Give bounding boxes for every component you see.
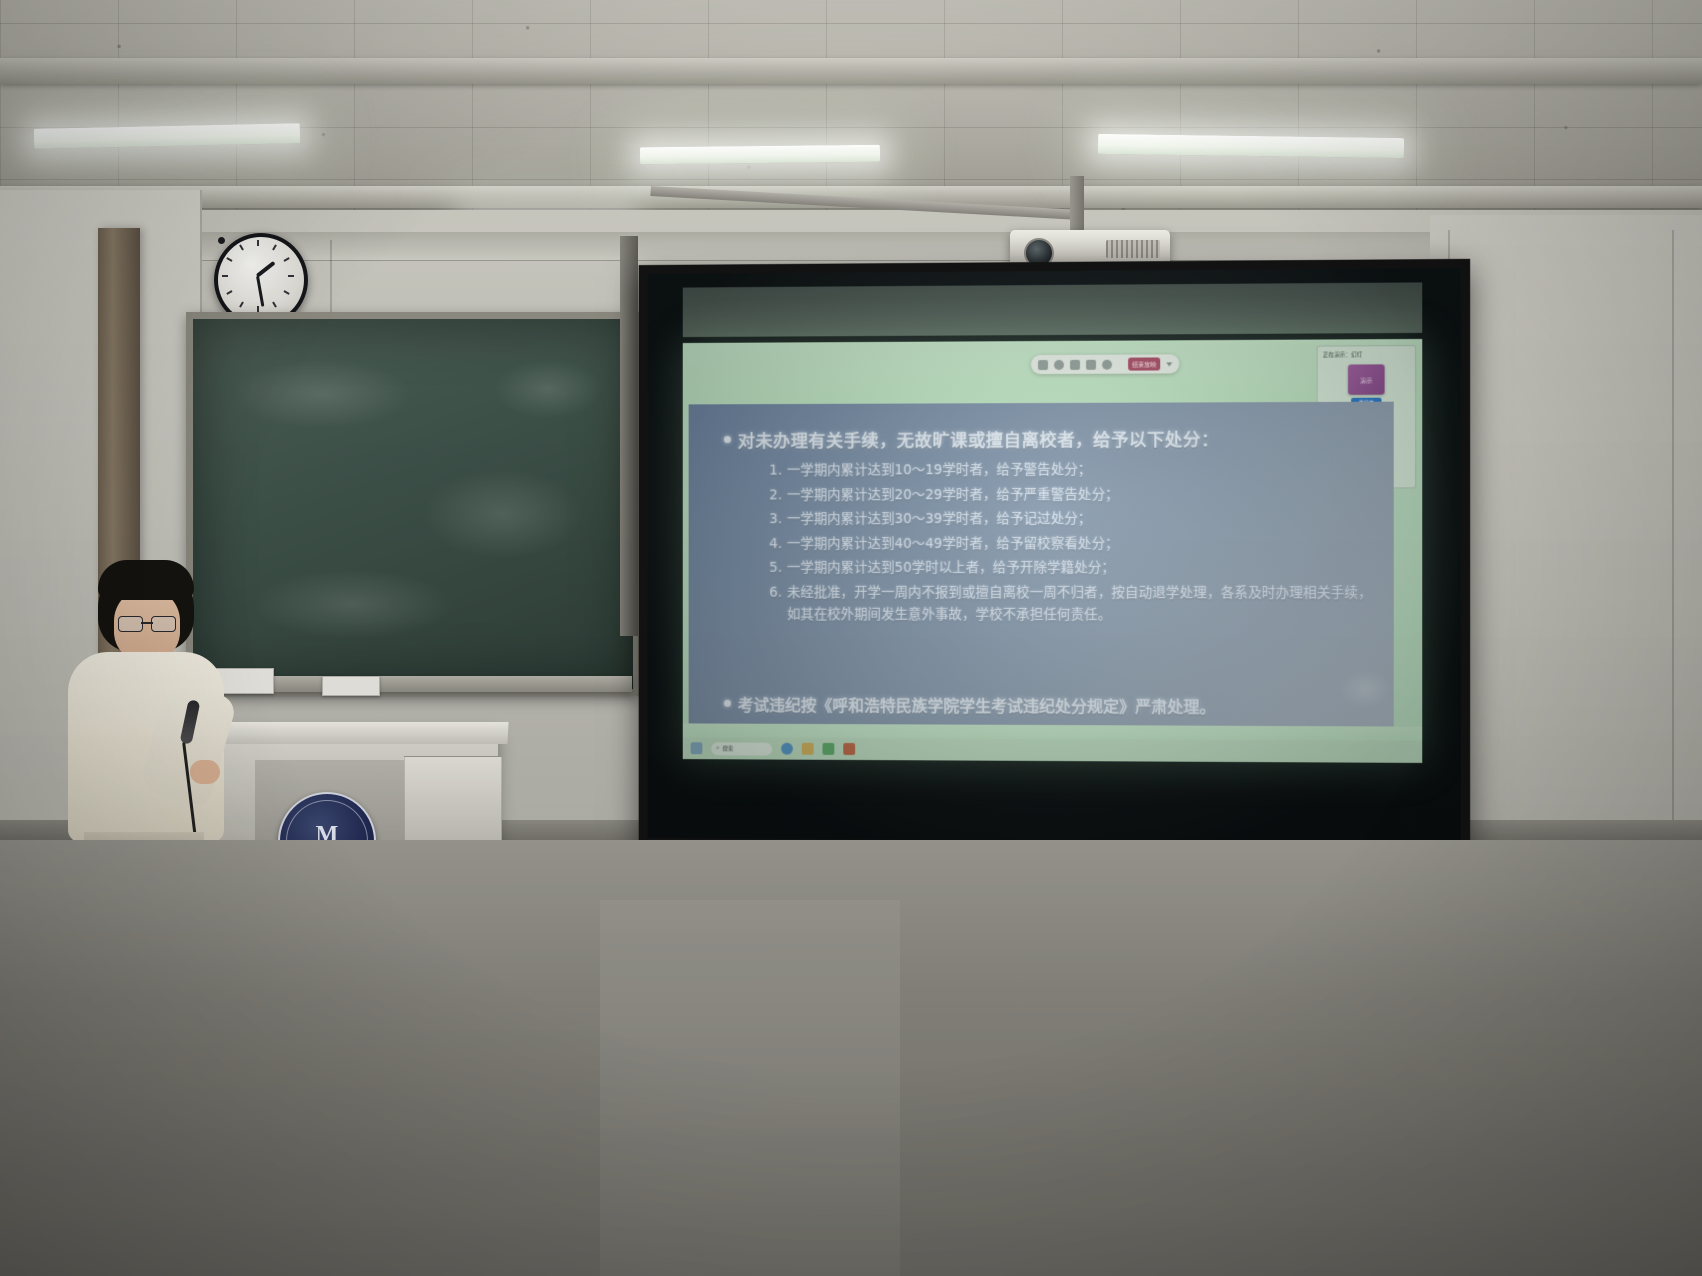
- bullet-dot-icon: [724, 436, 731, 443]
- list-item-number: 6.: [765, 581, 782, 626]
- clock-minute-hand: [256, 276, 264, 307]
- chevron-down-icon[interactable]: [1166, 362, 1172, 366]
- slide-footer-row: 考试违纪按《呼和浩特民族学院学生考试违纪处分规定》严肃处理。: [724, 692, 1384, 719]
- ceiling-light-2: [640, 145, 880, 165]
- list-item: 6. 未经批准，开学一周内不报到或擅自离校一周不归者，按自动退学处理，各系及时办…: [765, 581, 1385, 627]
- floor-aisle: [600, 900, 900, 1276]
- slide-heading-row: 对未办理有关手续，无故旷课或擅自离校者，给予以下处分：: [724, 426, 1373, 453]
- wall-seam-1: [330, 240, 332, 320]
- ceiling-beam-1: [0, 58, 1702, 84]
- list-item: 5. 一学期内累计达到50学时以上者，给予开除学籍处分；: [765, 557, 1385, 580]
- end-show-button[interactable]: 结束放映: [1128, 357, 1160, 370]
- slide-numbered-list: 1. 一学期内累计达到10～19学时者，给予警告处分； 2. 一学期内累计达到2…: [765, 458, 1385, 629]
- start-icon[interactable]: [691, 742, 703, 754]
- ceiling-light-3: [1098, 134, 1404, 158]
- screen-surface: 结束放映 正在演示：幻灯 演示 共享中 摄像头 对未办理有关手续，无故旷课或擅自…: [647, 268, 1460, 844]
- search-icon: ⌕: [716, 744, 719, 752]
- list-item-text: 一学期内累计达到10～19学时者，给予警告处分；: [787, 458, 1386, 482]
- projector-ceiling-mount: [1070, 176, 1084, 238]
- wechat-icon[interactable]: [823, 743, 835, 755]
- search-input[interactable]: ⌕ 搜索: [711, 742, 772, 755]
- projector-vent: [1106, 240, 1160, 258]
- list-item-text: 一学期内累计达到20～29学时者，给予严重警告处分；: [787, 483, 1386, 506]
- projection-screen: 结束放映 正在演示：幻灯 演示 共享中 摄像头 对未办理有关手续，无故旷课或擅自…: [639, 259, 1470, 853]
- list-item-text: 一学期内累计达到40～49学时者，给予留校察看处分；: [787, 532, 1386, 555]
- explorer-icon[interactable]: [802, 743, 814, 755]
- lecturer-hand: [190, 760, 220, 784]
- slide-heading: 对未办理有关手续，无故旷课或擅自离校者，给予以下处分：: [738, 426, 1219, 452]
- spotlight-icon[interactable]: [1070, 359, 1080, 369]
- edge-icon[interactable]: [781, 743, 793, 755]
- list-item-number: 3.: [765, 508, 782, 530]
- pen-icon[interactable]: [1038, 360, 1048, 370]
- list-item-number: 4.: [765, 533, 782, 555]
- pointer-icon[interactable]: [1054, 359, 1064, 369]
- lecturer-fringe: [98, 560, 194, 600]
- list-item-text: 一学期内累计达到30～39学时者，给予记过处分；: [787, 508, 1386, 531]
- slide-footer-text: 考试违纪按《呼和浩特民族学院学生考试违纪处分规定》严肃处理。: [738, 692, 1216, 718]
- list-item-number: 2.: [765, 484, 782, 506]
- slide-canvas: 对未办理有关手续，无故旷课或擅自离校者，给予以下处分： 1. 一学期内累计达到1…: [689, 402, 1394, 727]
- powerpoint-icon[interactable]: [843, 743, 855, 755]
- list-item-number: 1.: [765, 460, 782, 482]
- screen-top-band: [683, 282, 1422, 337]
- ppt-presenter-toolbar[interactable]: 结束放映: [1031, 354, 1179, 374]
- list-item-number: 5.: [765, 557, 782, 579]
- lecturer-glasses: [118, 616, 176, 631]
- screen-hotspot-glare: [1339, 670, 1392, 708]
- screen-support-post: [620, 236, 638, 636]
- side-panel-thumbnail[interactable]: 演示: [1348, 364, 1385, 394]
- list-item-text: 未经批准，开学一周内不报到或擅自离校一周不归者，按自动退学处理，各系及时办理相关…: [787, 581, 1386, 627]
- bullet-dot-icon: [724, 700, 731, 707]
- projected-desktop: 结束放映 正在演示：幻灯 演示 共享中 摄像头 对未办理有关手续，无故旷课或擅自…: [683, 339, 1422, 763]
- wall-seam-3: [1672, 230, 1674, 870]
- list-item: 3. 一学期内累计达到30～39学时者，给予记过处分；: [765, 508, 1385, 531]
- side-panel-title: 正在演示：幻灯: [1318, 346, 1415, 361]
- highlighter-icon[interactable]: [1102, 359, 1112, 369]
- clock-center-pin: [218, 237, 225, 244]
- list-item: 4. 一学期内累计达到40～49学时者，给予留校察看处分；: [765, 532, 1385, 555]
- green-chalkboard: [186, 312, 640, 696]
- search-placeholder: 搜索: [722, 744, 733, 752]
- chalk-tray-note-2: [322, 676, 380, 696]
- wall-right-panel: [1430, 215, 1702, 915]
- slide-view-icon[interactable]: [1086, 359, 1096, 369]
- windows-taskbar[interactable]: ⌕ 搜索: [683, 737, 1422, 763]
- clock-hour-hand: [256, 261, 276, 278]
- classroom-photo: 结束放映 正在演示：幻灯 演示 共享中 摄像头 对未办理有关手续，无故旷课或擅自…: [0, 0, 1702, 1276]
- list-item: 1. 一学期内累计达到10～19学时者，给予警告处分；: [765, 458, 1385, 482]
- list-item: 2. 一学期内累计达到20～29学时者，给予严重警告处分；: [765, 483, 1385, 506]
- list-item-text: 一学期内累计达到50学时以上者，给予开除学籍处分；: [787, 557, 1386, 580]
